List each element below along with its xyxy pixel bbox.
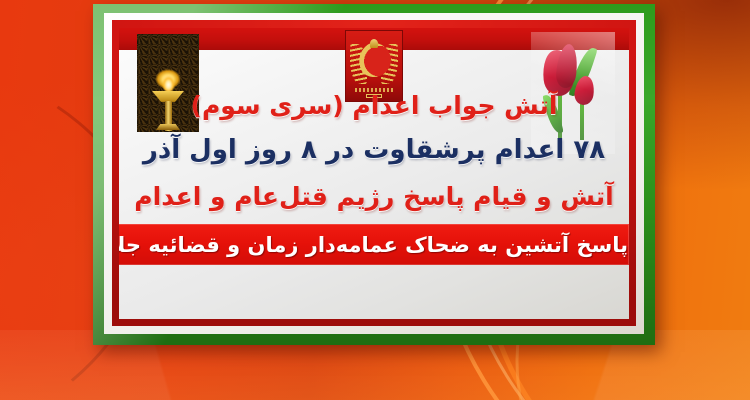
- framed-poster: آتش جواب اعدام (سری سوم) ۷۸ اعدام پرشقاو…: [93, 4, 655, 345]
- emblem-crest-icon: [370, 39, 378, 48]
- callout-banner-text: ۱۵ پاسخ آتشین به ضحاک عمامه‌دار زمان و ق…: [119, 233, 629, 257]
- headline-block: آتش جواب اعدام (سری سوم) ۷۸ اعدام پرشقاو…: [119, 92, 629, 265]
- flame-icon: [162, 73, 175, 92]
- banner-image: آتش جواب اعدام (سری سوم) ۷۸ اعدام پرشقاو…: [0, 0, 750, 400]
- poster-content-panel: آتش جواب اعدام (سری سوم) ۷۸ اعدام پرشقاو…: [119, 28, 629, 319]
- headline-tertiary: آتش و قیام پاسخ رژیم قتل‌عام و اعدام: [119, 183, 629, 211]
- red-callout-banner: ۱۵ پاسخ آتشین به ضحاک عمامه‌دار زمان و ق…: [119, 224, 629, 265]
- headline-secondary: ۷۸ اعدام پرشقاوت در ۸ روز اول آذر: [119, 136, 629, 165]
- headline-primary: آتش جواب اعدام (سری سوم): [119, 92, 629, 120]
